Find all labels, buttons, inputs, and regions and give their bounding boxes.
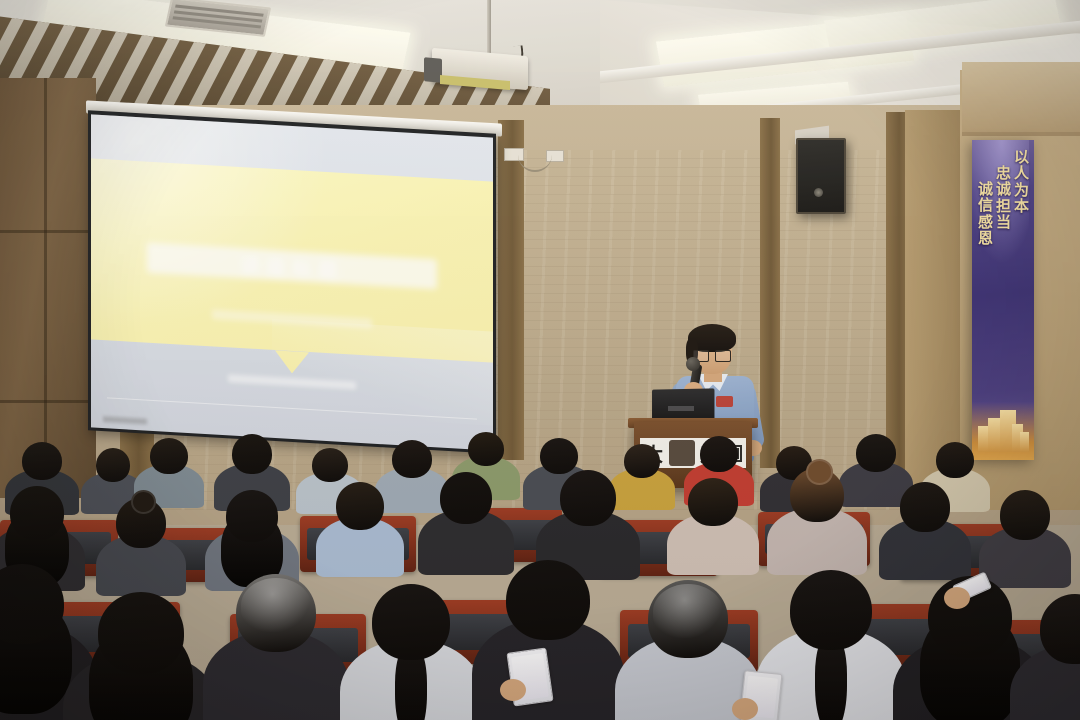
audience-head	[10, 486, 64, 540]
audience-head	[392, 440, 432, 478]
audience-head	[312, 448, 348, 482]
audience-head	[700, 436, 738, 472]
microphone-head-icon	[686, 357, 700, 371]
slide-corner-shape	[272, 319, 493, 426]
audience-head	[336, 482, 384, 530]
audience-head	[900, 482, 950, 532]
audience-head	[560, 470, 616, 526]
slide-surface: 讲座标题	[91, 114, 493, 450]
banner-column-2: 忠诚担当	[995, 166, 1012, 230]
banner-char: 信	[978, 198, 993, 213]
wall-trim-2	[498, 120, 524, 460]
banner-char: 恩	[978, 231, 993, 246]
audience-head	[856, 434, 896, 472]
banner-char: 人	[1014, 166, 1029, 181]
banner-char: 为	[1014, 183, 1029, 198]
banner-char: 本	[1014, 199, 1029, 214]
audience-gray-hair-highlight	[241, 578, 311, 633]
audience-hand	[732, 698, 758, 720]
audience-head	[96, 448, 130, 482]
audience-gray-hair-highlight	[653, 584, 723, 639]
laptop-logo	[668, 406, 694, 411]
projection-screen: 讲座标题	[88, 110, 496, 454]
banner-column-1: 以人为本	[1013, 150, 1030, 214]
audience-head	[790, 570, 872, 650]
audience-hair-bun	[806, 459, 833, 485]
podium-laptop-screen	[652, 388, 714, 421]
audience-head	[232, 434, 272, 474]
audience-head	[540, 438, 578, 474]
audience-head	[226, 490, 278, 542]
banner-char: 以	[1014, 150, 1029, 165]
audience-head	[98, 592, 184, 674]
audience-head	[372, 584, 450, 660]
audience-head	[624, 444, 660, 478]
wall-loudspeaker	[796, 138, 846, 214]
audience-head	[468, 432, 504, 466]
audience-head	[936, 442, 974, 478]
audience-hair-bun	[131, 490, 156, 514]
audience-head	[22, 442, 62, 480]
decorative-pillar-cap	[962, 62, 1080, 136]
audience-hand	[500, 679, 526, 701]
audience-area	[0, 424, 1080, 720]
audience-head	[1000, 490, 1050, 540]
audience-head	[688, 478, 738, 526]
banner-char: 当	[996, 215, 1011, 230]
banner-char: 诚	[978, 182, 993, 197]
vertical-banner: 以人为本 忠诚担当 诚信感恩	[972, 140, 1034, 460]
audience-hand	[944, 587, 970, 609]
slide-title-text: 讲座标题	[240, 249, 344, 284]
banner-char: 担	[996, 199, 1011, 214]
audience-head	[150, 438, 188, 474]
presenter-shirt-logo	[716, 396, 733, 407]
banner-column-3: 诚信感恩	[977, 182, 994, 246]
speaker-driver-icon	[814, 188, 823, 197]
glasses-icon	[693, 350, 729, 360]
conference-hall-photo: 讲座标题 以人为本 忠诚担当 诚信感恩 大天	[0, 0, 1080, 720]
banner-char: 忠	[996, 166, 1011, 181]
audience-head	[506, 560, 590, 640]
banner-char: 感	[978, 215, 993, 230]
audience-head	[440, 472, 492, 524]
wall-trim-3	[760, 118, 780, 468]
banner-char: 诚	[996, 182, 1011, 197]
